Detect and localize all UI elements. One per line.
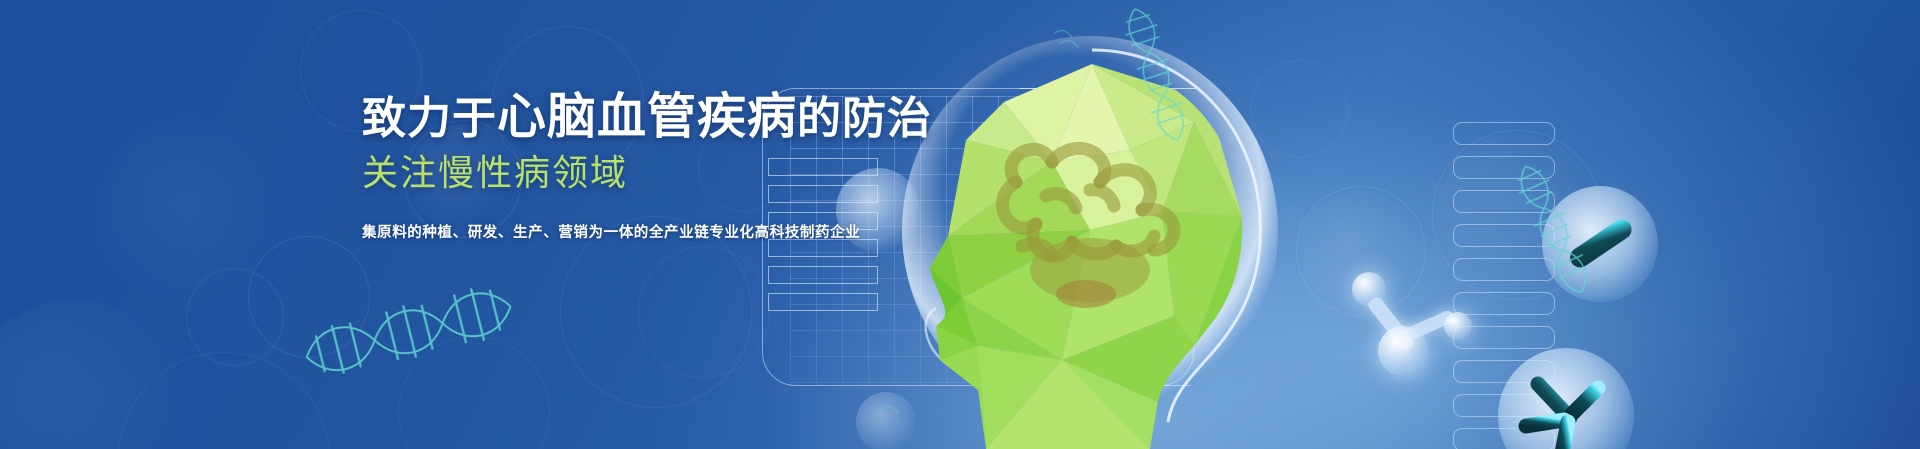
cell-rod-chromosome: [1542, 186, 1658, 302]
molecule-node: [1352, 272, 1386, 306]
hud-bar: [1453, 224, 1555, 247]
molecule-node: [1444, 312, 1472, 340]
headline-prefix: 致力于: [362, 94, 497, 143]
hud-bar: [1453, 258, 1555, 281]
headline-emphasis: 心脑血管疾病: [497, 90, 797, 144]
headline-suffix: 的防治: [797, 94, 932, 143]
hud-bar: [1453, 122, 1555, 145]
hud-bar: [1453, 292, 1555, 315]
banner-headline: 致力于心脑血管疾病的防治: [362, 92, 1082, 143]
banner-subheadline: 关注慢性病领域: [362, 153, 1082, 193]
banner-text-block: 致力于心脑血管疾病的防治 关注慢性病领域 集原料的种植、研发、生产、营销为一体的…: [362, 92, 1082, 242]
cell-y-chromosome: [1498, 348, 1634, 449]
hero-banner: 致力于心脑血管疾病的防治 关注慢性病领域 集原料的种植、研发、生产、营销为一体的…: [0, 0, 1920, 449]
molecule-node: [1378, 326, 1428, 376]
banner-tagline: 集原料的种植、研发、生产、营销为一体的全产业链专业化高科技制药企业: [362, 221, 1082, 242]
hud-bar: [1453, 190, 1555, 213]
hud-bar: [1453, 156, 1555, 179]
